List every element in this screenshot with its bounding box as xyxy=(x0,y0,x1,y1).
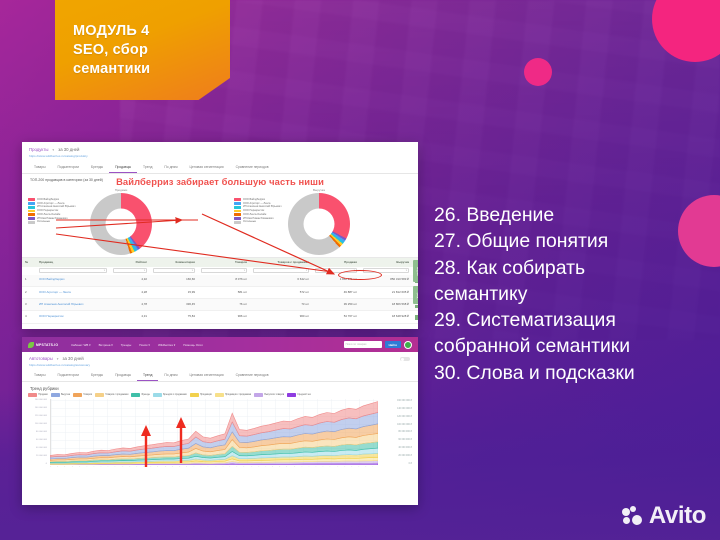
y-tick-left-8: 0 xyxy=(28,463,47,465)
table-filter-7[interactable]: ▾ xyxy=(360,267,412,275)
legend-swatch-icon xyxy=(234,217,241,220)
table-col-2[interactable]: Рейтинг xyxy=(110,258,150,267)
y-tick-2: 120 000 000 ₽ xyxy=(380,415,412,418)
legend-swatch-icon xyxy=(234,202,241,205)
tab-5[interactable]: По дням xyxy=(158,163,183,173)
legend-swatch-icon xyxy=(153,393,162,397)
avito-watermark: Avito xyxy=(622,502,706,530)
avatar[interactable] xyxy=(404,341,412,349)
table-cell-3: 15,99 xyxy=(150,287,198,299)
decorative-circle-small xyxy=(524,58,552,86)
module-badge-label: МОДУЛЬ 4 SEO, сбор семантики xyxy=(73,22,223,79)
y-axis-left: 160 000 000140 000 000120 000 000100 000… xyxy=(28,399,48,465)
table-col-4[interactable]: Товаров xyxy=(198,258,250,267)
table-cell-1: ООО Перекресток xyxy=(36,311,110,323)
legend-series-label: Выкупили товаров xyxy=(264,394,284,396)
legend-toggle-3[interactable]: Товаров с продажами xyxy=(95,393,128,397)
table-col-3[interactable]: Комментарии xyxy=(150,258,198,267)
table-filter-row[interactable]: ▾▾▾▾▾▾▾ xyxy=(22,267,418,275)
lesson-list: 26. Введение 27. Общие понятия 28. Как с… xyxy=(434,202,706,386)
table-cell-3: 75,84 xyxy=(150,311,198,323)
y-tick-left-1: 140 000 000 xyxy=(28,407,47,409)
table-filter-5[interactable]: ▾ xyxy=(250,267,312,275)
legend-toggle-1[interactable]: Выручка xyxy=(51,393,70,397)
nav-item-4[interactable]: Wildberries ▾ xyxy=(158,343,175,347)
trend-area-chart: 160 000 000140 000 000120 000 000100 000… xyxy=(28,399,412,479)
y-tick-left-0: 160 000 000 xyxy=(28,399,47,401)
category-selector[interactable]: Продукты ▾ за 30 дней xyxy=(29,147,411,152)
dashboard-screenshot-bottom: MPSTATS.IO Кабинет WB ▾Витрина ▾ТрендыПо… xyxy=(22,337,418,505)
table-header-row: №ПродавецРейтингКомментарииТоваровТоваро… xyxy=(22,258,418,267)
legend-swatch-icon xyxy=(234,213,241,216)
legend-swatch-icon xyxy=(28,210,35,213)
table-filter-3[interactable]: ▾ xyxy=(150,267,198,275)
table-cell-0: 1 xyxy=(22,275,36,287)
table-cell-1: ООО Агроторг — Лента xyxy=(36,287,110,299)
table-cell-4: 581 шт xyxy=(198,287,250,299)
legend-swatch-icon xyxy=(51,393,60,397)
nav-item-0[interactable]: Кабинет WB ▾ xyxy=(71,343,90,347)
filter-select-2[interactable]: ▾ xyxy=(113,268,147,273)
table-cell-3: 166,66 xyxy=(150,275,198,287)
table-filter-1[interactable]: ▾ xyxy=(36,267,110,275)
table-filter-6[interactable]: ▾ xyxy=(312,267,360,275)
legend-toggle-5[interactable]: Брендов с продажами xyxy=(153,393,187,397)
tab-3[interactable]: Продавцы xyxy=(109,163,137,173)
legend-series-label: Брендов с продажами xyxy=(163,394,187,396)
legend-toggle-8[interactable]: Выкупили товаров xyxy=(254,393,284,397)
leaf-icon xyxy=(28,342,34,348)
donut-legend-right: ООО ВайлдберризООО Агроторг — ЛентаИП Ал… xyxy=(234,198,281,224)
legend-toggle-6[interactable]: Продавцов xyxy=(190,393,212,397)
table-cell-5: 73 шт xyxy=(250,299,312,311)
filter-select-7[interactable]: ▾ xyxy=(363,268,409,273)
legend-swatch-icon xyxy=(28,198,35,201)
legend-series-label: Товаров с продажами xyxy=(105,394,128,396)
chart-title: Тренд рубрики xyxy=(22,382,418,393)
table-col-0[interactable]: № xyxy=(22,258,36,267)
table-cell-7: 18 648 928 ₽ xyxy=(360,311,412,323)
table-cell-4: 76 шт xyxy=(198,299,250,311)
table-cell-4: 8 076 шт xyxy=(198,275,250,287)
x-axis-labels: 01.0403.0405.0407.0409.0411.0413.0415.04… xyxy=(50,466,378,479)
table-filter-4[interactable]: ▾ xyxy=(198,267,250,275)
table-cell-6: 39 250 шт xyxy=(312,299,360,311)
table-cell-0: 2 xyxy=(22,287,36,299)
bottom-tab-5[interactable]: По дням xyxy=(158,371,183,381)
tab-2[interactable]: Бренды xyxy=(85,163,109,173)
dashboard-screenshot-top: Продукты ▾ за 30 дней https://www.wildbe… xyxy=(22,142,418,329)
table-cell-2: 4,28 xyxy=(110,287,150,299)
table-filter-0[interactable] xyxy=(22,267,36,275)
table-col-5[interactable]: Товаров с продажами xyxy=(250,258,312,267)
table-row[interactable]: 1ООО Вайлдберриз4,32166,668 076 шт6 642 … xyxy=(22,275,418,287)
tab-4[interactable]: Тренд xyxy=(137,163,158,173)
bottom-tab-7[interactable]: Сравнение периодов xyxy=(230,371,275,381)
legend-swatch-icon xyxy=(234,210,241,213)
y-tick-4: 80 000 000 ₽ xyxy=(380,430,412,433)
legend-series-label: Бренды xyxy=(142,394,150,396)
legend-swatch-icon xyxy=(190,393,199,397)
table-body: 1ООО Вайлдберриз4,32166,668 076 шт6 642 … xyxy=(22,275,418,324)
legend-swatch-icon xyxy=(73,393,82,397)
nav-item-2[interactable]: Тренды xyxy=(121,343,132,347)
filter-select-5[interactable]: ▾ xyxy=(253,268,309,273)
table-cell-8 xyxy=(412,311,418,323)
legend-swatch-icon xyxy=(131,393,140,397)
top-panel-header: Продукты ▾ за 30 дней https://www.wildbe… xyxy=(22,142,418,160)
table-cell-2: 4,32 xyxy=(110,275,150,287)
bottom-tab-4[interactable]: Тренд xyxy=(137,371,158,381)
legend-item-6: Остальные xyxy=(28,220,75,224)
legend-series-label: Выручка xyxy=(61,394,70,396)
y-tick-5: 60 000 000 ₽ xyxy=(380,438,412,441)
y-tick-0: 160 000 000 ₽ xyxy=(380,399,412,402)
category-selector-bottom[interactable]: Автотовары ▾ за 30 дней xyxy=(29,356,411,361)
table-row[interactable]: 2ООО Агроторг — Лента4,2815,99581 шт572 … xyxy=(22,287,418,299)
table-col-7[interactable]: Выручка xyxy=(360,258,412,267)
y-tick-7: 20 000 000 ₽ xyxy=(380,454,412,457)
table-row[interactable]: 3ИП Алексеев Анатолий Юрьевич4,78336,457… xyxy=(22,299,418,311)
legend-series-label: Товаров xyxy=(83,394,92,396)
y-tick-8: 0 ₽ xyxy=(380,462,412,465)
legend-swatch-icon xyxy=(234,198,241,201)
legend-label: Остальные xyxy=(243,220,256,224)
legend-swatch-icon xyxy=(28,213,35,216)
donut-revenue xyxy=(288,193,350,255)
filter-select-1[interactable]: ▾ xyxy=(39,268,107,273)
side-chip-trend[interactable]: Тренд xyxy=(413,286,418,304)
legend-toggle-4[interactable]: Бренды xyxy=(131,393,150,397)
y-tick-1: 140 000 000 ₽ xyxy=(380,407,412,410)
bottom-panel-tabs[interactable]: ТоварыПодкатегорииБрендыПродавцыТрендПо … xyxy=(22,371,418,382)
table-cell-6: 54 767 шт xyxy=(312,311,360,323)
chart-plot-area xyxy=(50,399,378,465)
bottom-panel-header: Автотовары ▾ за 30 дней https://www.wild… xyxy=(22,352,418,368)
category-value: Продукты xyxy=(29,147,48,152)
y-tick-left-5: 60 000 000 xyxy=(28,439,47,441)
breadcrumb-link[interactable]: https://www.wildberries.ru/catalog/produ… xyxy=(29,154,411,158)
donut-sales xyxy=(90,193,152,255)
chevron-down-icon: ▾ xyxy=(52,148,54,152)
nav-item-1[interactable]: Витрина ▾ xyxy=(99,343,113,347)
y-tick-3: 100 000 000 ₽ xyxy=(380,423,412,426)
lesson-list-text: 26. Введение 27. Общие понятия 28. Как с… xyxy=(434,202,706,386)
donut-label-revenue: Выручка xyxy=(313,188,325,192)
y-tick-left-6: 40 000 000 xyxy=(28,447,47,449)
table-cell-7: 850 310 583 ₽ xyxy=(360,275,412,287)
sellers-table: №ПродавецРейтингКомментарииТоваровТоваро… xyxy=(22,257,418,324)
chevron-down-icon-bottom: ▾ xyxy=(57,357,59,361)
filter-select-6[interactable]: ▾ xyxy=(315,268,357,273)
y-tick-left-7: 20 000 000 xyxy=(28,455,47,457)
table-col-1[interactable]: Продавец xyxy=(36,258,110,267)
legend-series-label: Продавцов с продажами xyxy=(225,394,251,396)
y-tick-left-4: 80 000 000 xyxy=(28,431,47,433)
table-cell-6: 49 887 шт xyxy=(312,287,360,299)
table-cell-0: 4 xyxy=(22,311,36,323)
bottom-tab-6[interactable]: Ценовая сегментация xyxy=(184,371,230,381)
category-value-bottom: Автотовары xyxy=(29,356,53,361)
bottom-tab-3[interactable]: Продавцы xyxy=(109,371,137,381)
top-panel-tabs[interactable]: ТоварыПодкатегорииБрендыПродавцыТрендПо … xyxy=(22,163,418,174)
table-cell-5: 960 шт xyxy=(250,311,312,323)
table-cell-0: 3 xyxy=(22,299,36,311)
search-button[interactable]: Найти xyxy=(385,341,401,348)
table-filter-2[interactable]: ▾ xyxy=(110,267,150,275)
legend-series-label: Продавцов xyxy=(200,394,212,396)
tab-7[interactable]: Сравнение периодов xyxy=(230,163,275,173)
filter-select-4[interactable]: ▾ xyxy=(201,268,247,273)
legend-swatch-icon xyxy=(28,202,35,205)
legend-swatch-icon xyxy=(287,393,296,397)
y-tick-left-3: 100 000 000 xyxy=(28,423,47,425)
legend-swatch-icon xyxy=(28,393,37,397)
bottom-tab-2[interactable]: Бренды xyxy=(85,371,109,381)
avito-logo-icon xyxy=(622,506,644,526)
y-tick-6: 40 000 000 ₽ xyxy=(380,446,412,449)
legend-swatch-icon xyxy=(95,393,104,397)
table-cell-4: 966 шт xyxy=(198,311,250,323)
legend-toggle-0[interactable]: Продажи xyxy=(28,393,48,397)
table-col-6[interactable]: Продажи xyxy=(312,258,360,267)
y-axis-labels: 160 000 000 ₽140 000 000 ₽120 000 000 ₽1… xyxy=(380,399,412,465)
tab-1[interactable]: Подкатегории xyxy=(52,163,85,173)
donut-label-sales: Продажи xyxy=(115,188,128,192)
table-cell-1: ИП Алексеев Анатолий Юрьевич xyxy=(36,299,110,311)
avito-wordmark: Avito xyxy=(649,502,706,530)
table-cell-5: 6 642 шт xyxy=(250,275,312,287)
table-cell-1: ООО Вайлдберриз xyxy=(36,275,110,287)
nav-item-5[interactable]: Помощь Ozon xyxy=(183,343,203,347)
sparkline xyxy=(415,314,418,320)
legend-swatch-icon xyxy=(234,221,241,224)
bottom-tab-0[interactable]: Товары xyxy=(28,371,52,381)
filter-select-3[interactable]: ▾ xyxy=(153,268,195,273)
table-cell-5: 572 шт xyxy=(250,287,312,299)
legend-swatch-icon xyxy=(28,217,35,220)
view-toggle[interactable] xyxy=(400,357,410,361)
legend-item-6: Остальные xyxy=(234,220,281,224)
legend-toggle-2[interactable]: Товаров xyxy=(73,393,92,397)
legend-toggle-7[interactable]: Продавцов с продажами xyxy=(215,393,251,397)
y-tick-left-2: 120 000 000 xyxy=(28,415,47,417)
legend-toggle-9[interactable]: Средний чек xyxy=(287,393,311,397)
legend-swatch-icon xyxy=(215,393,224,397)
bottom-tab-1[interactable]: Подкатегории xyxy=(52,371,85,381)
period-value-bottom: за 30 дней xyxy=(63,356,84,361)
search-input[interactable]: Поиск по товарам xyxy=(344,341,382,348)
table-cell-7: 21 812 605 ₽ xyxy=(360,287,412,299)
table-cell-2: 4,31 xyxy=(110,311,150,323)
table-cell-6: 1 862 371 шт xyxy=(312,275,360,287)
breadcrumb-link-bottom[interactable]: https://www.wildberries.ru/catalog/avtot… xyxy=(29,363,411,367)
period-value: за 30 дней xyxy=(58,147,79,152)
table-cell-2: 4,78 xyxy=(110,299,150,311)
legend-label: Остальные xyxy=(37,220,50,224)
legend-swatch-icon xyxy=(254,393,263,397)
app-logo[interactable]: MPSTATS.IO xyxy=(28,342,58,348)
legend-swatch-icon xyxy=(234,206,241,209)
navbar-menu[interactable]: Кабинет WB ▾Витрина ▾ТрендыПоиск ▾Wildbe… xyxy=(71,343,203,347)
donut-chart-group: Продажи Выручка ООО ВайлдберризООО Агрот… xyxy=(22,188,418,255)
legend-series-label: Средний чек xyxy=(297,394,310,396)
tab-0[interactable]: Товары xyxy=(28,163,52,173)
navbar-right: Поиск по товарам Найти xyxy=(344,341,412,349)
side-chip-revenue[interactable]: Выручка xyxy=(413,260,418,282)
table-cell-7: 18 806 568 ₽ xyxy=(360,299,412,311)
tab-6[interactable]: Ценовая сегментация xyxy=(184,163,230,173)
app-navbar: MPSTATS.IO Кабинет WB ▾Витрина ▾ТрендыПо… xyxy=(22,337,418,352)
legend-swatch-icon xyxy=(28,221,35,224)
legend-swatch-icon xyxy=(28,206,35,209)
nav-item-3[interactable]: Поиск ▾ xyxy=(139,343,150,347)
table-cell-3: 336,45 xyxy=(150,299,198,311)
table-row[interactable]: 4ООО Перекресток4,3175,84966 шт960 шт54 … xyxy=(22,311,418,323)
donut-legend-left: ООО ВайлдберризООО Агроторг — ЛентаИП Ал… xyxy=(28,198,75,224)
logo-text: MPSTATS.IO xyxy=(36,343,58,347)
legend-series-label: Продажи xyxy=(38,394,48,396)
